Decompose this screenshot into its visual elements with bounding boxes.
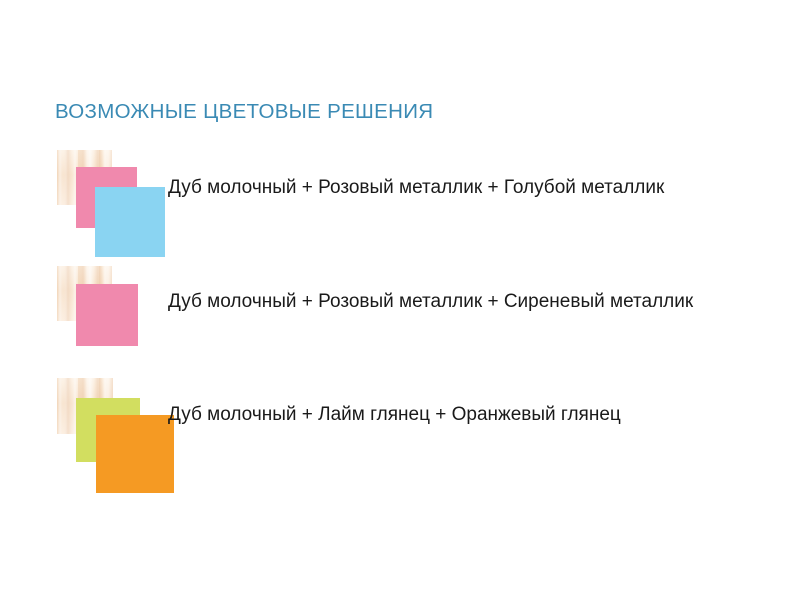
slide-canvas: ВОЗМОЖНЫЕ ЦВЕТОВЫЕ РЕШЕНИЯ Дуб молочный … bbox=[0, 0, 800, 600]
swatch-orange-gloss bbox=[96, 415, 174, 493]
color-option-label: Дуб молочный + Лайм глянец + Оранжевый г… bbox=[168, 396, 738, 433]
swatch-pink-metallic bbox=[76, 284, 138, 346]
color-option-label: Дуб молочный + Розовый металлик + Сирене… bbox=[168, 283, 738, 320]
page-title: ВОЗМОЖНЫЕ ЦВЕТОВЫЕ РЕШЕНИЯ bbox=[55, 100, 433, 124]
color-option-label: Дуб молочный + Розовый металлик + Голубо… bbox=[168, 169, 738, 206]
swatch-blue-metallic bbox=[95, 187, 165, 257]
